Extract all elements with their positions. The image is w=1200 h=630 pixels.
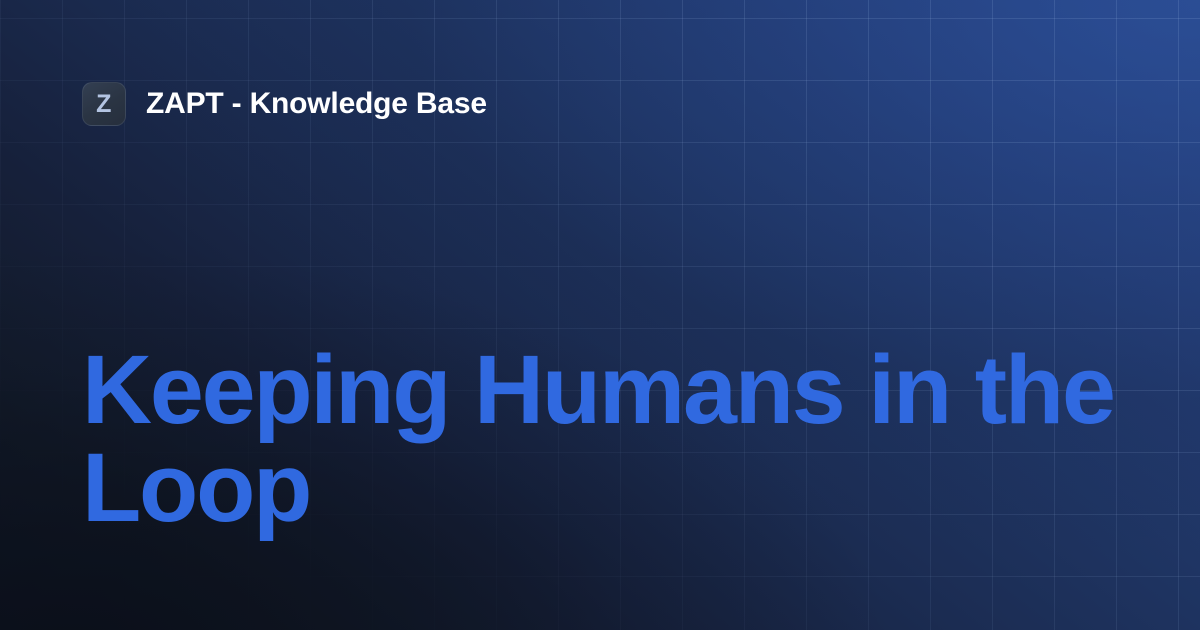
logo-letter: Z bbox=[96, 92, 112, 117]
site-title: ZAPT - Knowledge Base bbox=[146, 89, 487, 119]
og-card: Z ZAPT - Knowledge Base Keeping Humans i… bbox=[0, 0, 1200, 630]
page-title: Keeping Humans in the Loop bbox=[82, 341, 1122, 537]
card-content: Z ZAPT - Knowledge Base Keeping Humans i… bbox=[0, 0, 1200, 630]
zapt-logo-badge-icon[interactable]: Z bbox=[82, 82, 126, 126]
headline-block: Keeping Humans in the Loop bbox=[82, 341, 1122, 537]
site-header: Z ZAPT - Knowledge Base bbox=[82, 82, 487, 126]
